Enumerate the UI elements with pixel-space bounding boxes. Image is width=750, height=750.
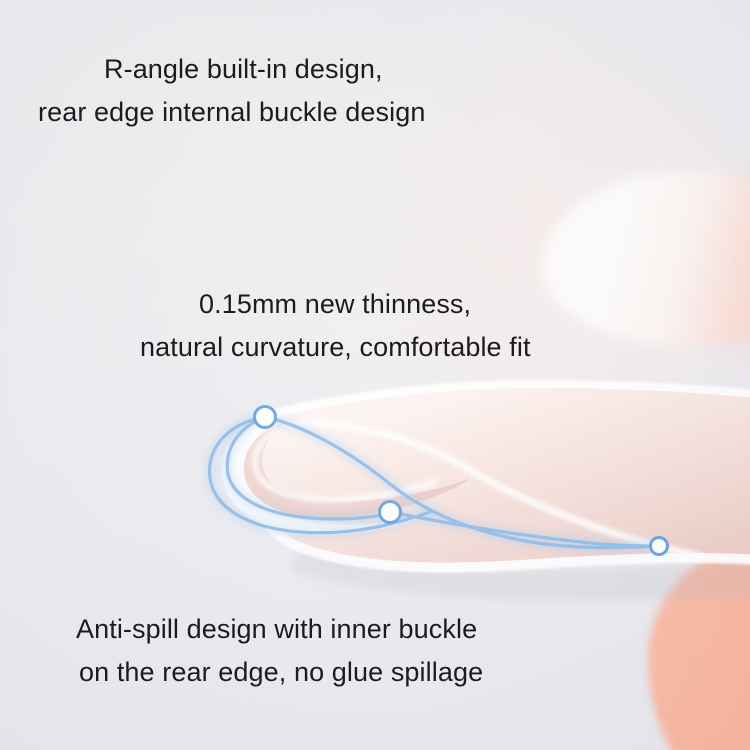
caption-bottom-line1: Anti-spill design with inner buckle — [76, 614, 477, 644]
caption-top-line1: R-angle built-in design, — [104, 54, 383, 84]
caption-top-line2: rear edge internal buckle design — [38, 91, 425, 134]
caption-middle-line1: 0.15mm new thinness, — [199, 289, 471, 319]
caption-bottom-line2: on the rear edge, no glue spillage — [79, 651, 483, 694]
product-feature-image: R-angle built-in design, rear edge inter… — [0, 0, 750, 750]
caption-middle: 0.15mm new thinness, natural curvature, … — [199, 283, 531, 369]
caption-top: R-angle built-in design, rear edge inter… — [104, 48, 425, 134]
caption-middle-line2: natural curvature, comfortable fit — [140, 326, 531, 369]
caption-bottom: Anti-spill design with inner buckle on t… — [76, 608, 483, 694]
